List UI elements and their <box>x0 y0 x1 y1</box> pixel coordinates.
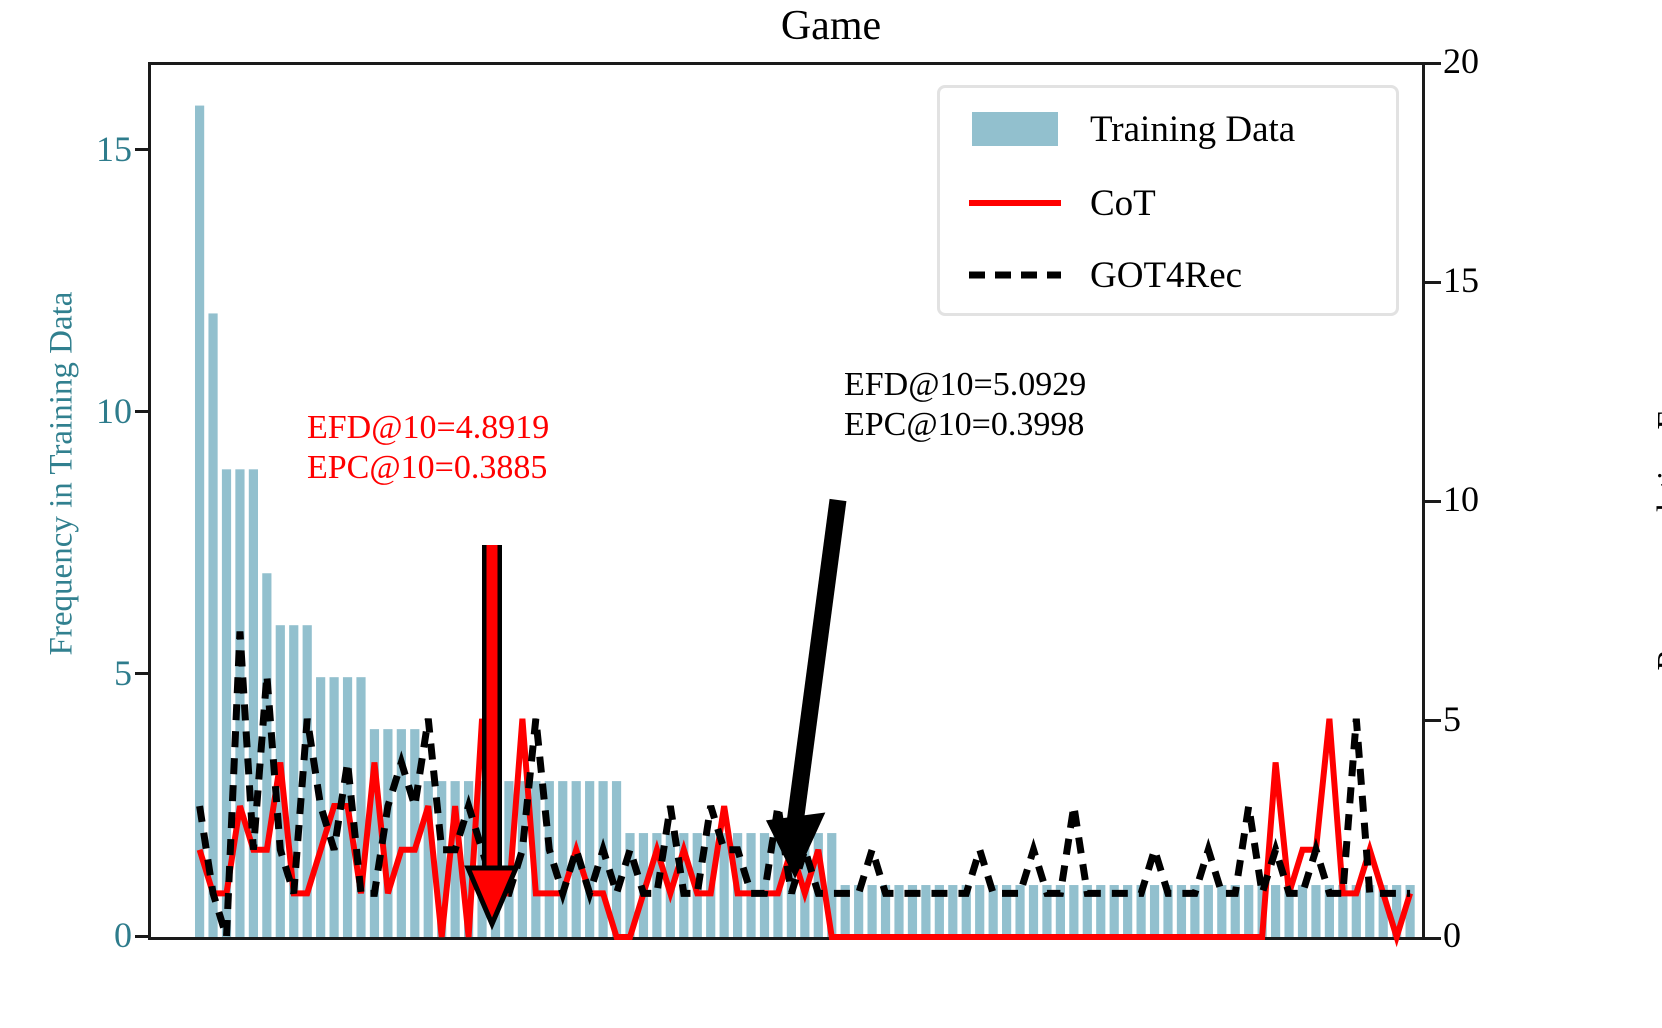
legend-dashed-line-icon <box>940 268 1090 282</box>
legend-label-got4rec: GOT4Rec <box>1090 254 1242 297</box>
legend-solid-line-icon <box>940 197 1090 209</box>
legend-label-training-data: Training Data <box>1090 108 1295 151</box>
got4rec-arrow <box>769 500 838 874</box>
legend-item-got4rec[interactable]: GOT4Rec <box>940 246 1396 304</box>
annotation-arrows-layer <box>0 0 1662 1028</box>
legend-item-training-data[interactable]: Training Data <box>940 100 1396 158</box>
legend-bar-swatch-icon <box>940 112 1090 146</box>
chart-legend: Training Data CoT GOT4Rec <box>937 85 1399 316</box>
chart-figure: Game Frequency in Training Data Recommen… <box>0 0 1662 1028</box>
legend-label-cot: CoT <box>1090 182 1156 225</box>
legend-item-cot[interactable]: CoT <box>940 174 1396 232</box>
cot-arrow <box>468 545 516 924</box>
